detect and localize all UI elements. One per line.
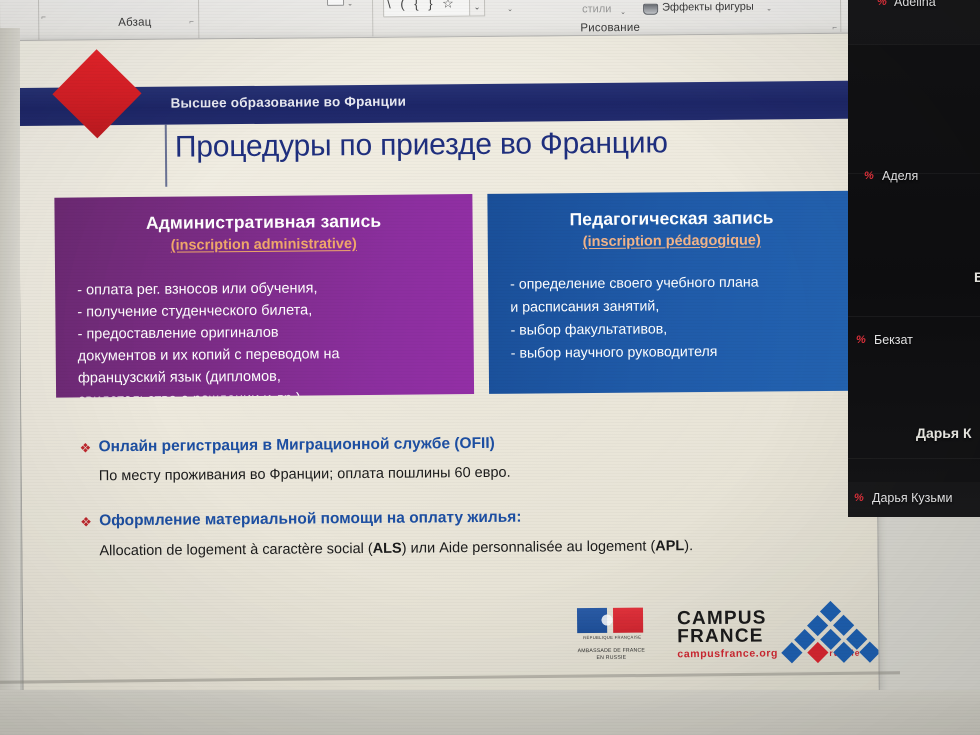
pedagogical-box-heading: Педагогическая запись: [487, 207, 855, 231]
monitor-bezel-left: [0, 28, 20, 708]
participant-tile[interactable]: % Бекзат: [848, 318, 980, 362]
align-objects-chevron-down-icon[interactable]: ⌄: [347, 0, 353, 8]
slide-header-bar: [18, 81, 873, 126]
participant-name: Бекзат: [874, 333, 913, 347]
shape-gallery[interactable]: \ ( { } ☆: [383, 0, 473, 17]
bullet-item-housing: ❖ Оформление материальной помощи на опла…: [80, 506, 780, 536]
participant-name: Дарья Кузьми: [872, 491, 952, 505]
drawing-group-launcher-icon[interactable]: ⌐: [832, 23, 837, 32]
campus-diamond-icon: [859, 641, 878, 662]
title-rule-divider: [165, 125, 168, 187]
bullet-ofii-heading: Онлайн регистрация в Миграционной службе…: [98, 435, 494, 456]
housing-abbr-apl: APL: [655, 538, 684, 554]
housing-sub-middle: ) или Aide personnalisée au logement (: [402, 538, 656, 556]
zoom-participants-panel[interactable]: % Adelina % Аделя Б % Бекзат Дарья К % Д…: [848, 0, 980, 517]
campus-france-url: campusfrance.org: [677, 647, 778, 660]
ribbon-divider: [198, 0, 199, 38]
paragraph-group-launcher-icon[interactable]: ⌐: [189, 17, 194, 26]
participant-name: Adelina: [894, 0, 936, 9]
bullet-housing-subtext: Allocation de logement à caractère socia…: [99, 538, 693, 559]
quick-styles-label-line2[interactable]: стили: [582, 3, 611, 15]
french-embassy-logo: RÉPUBLIQUE FRANÇAISE AMBASSADE DE FRANCE…: [563, 607, 660, 672]
ribbon-divider: [372, 0, 373, 36]
diamond-bullet-icon: ❖: [79, 441, 91, 455]
ribbon-divider: [38, 0, 39, 40]
participant-divider: [848, 458, 980, 459]
shape-effects-chevron-down-icon[interactable]: ⌄: [766, 5, 772, 13]
ribbon-divider: [840, 0, 841, 32]
housing-abbr-als: ALS: [373, 541, 402, 557]
housing-sub-prefix: Allocation de logement à caractère socia…: [99, 541, 372, 559]
bullet-ofii-subtext: По месту проживания во Франции; оплата п…: [99, 465, 511, 485]
administrative-box-body: - оплата рег. взносов или обучения,- пол…: [77, 276, 460, 398]
bullet-housing-heading: Оформление материальной помощи на оплату…: [99, 509, 521, 531]
align-objects-icon[interactable]: [327, 0, 344, 6]
arrange-chevron-down-icon[interactable]: ⌄: [507, 5, 513, 13]
slide-header-text: Высшее образование во Франции: [170, 94, 406, 111]
mute-icon: %: [864, 170, 875, 182]
participant-tile[interactable]: % Аделя: [848, 150, 980, 194]
housing-sub-suffix: ).: [684, 538, 693, 554]
embassy-republic-text: RÉPUBLIQUE FRANÇAISE: [567, 634, 657, 640]
bullet-item-ofii: ❖ Онлайн регистрация в Миграционной служ…: [79, 433, 719, 463]
participant-divider: [848, 44, 980, 45]
ribbon-group-label-paragraph: Абзац: [118, 17, 151, 29]
desk-surface: [0, 690, 980, 735]
photo-of-monitor: ⌐ Абзац ⌐ ⌄ \ ( { } ☆ ⌄ Упорядочить ⌄ Эк…: [0, 0, 980, 735]
shape-effects-button[interactable]: Эффекты фигуры: [662, 1, 754, 14]
participant-tile[interactable]: Б: [848, 250, 980, 294]
participant-divider: [848, 316, 980, 317]
shape-effects-icon[interactable]: [643, 4, 658, 15]
paragraph-dialog-launcher-icon[interactable]: ⌐: [41, 13, 46, 22]
mute-icon: %: [877, 0, 888, 8]
slide-title: Процедуры по приезде во Францию: [175, 125, 865, 165]
participant-tile[interactable]: % Adelina: [848, 0, 980, 44]
presentation-slide[interactable]: Высшее образование во Франции Процедуры …: [18, 34, 879, 701]
embassy-flag-blue-icon: [577, 608, 607, 633]
participant-tile[interactable]: % Дарья Кузьми: [848, 482, 980, 517]
diamond-bullet-icon: ❖: [80, 515, 92, 529]
mute-icon: %: [854, 492, 865, 504]
campus-france-logo: CAMPUS FRANCE campusfrance.org russie: [677, 606, 868, 670]
embassy-flag-red-icon: [613, 608, 643, 633]
participant-name: Б: [974, 269, 980, 285]
mute-icon: %: [856, 334, 867, 346]
embassy-title-text: AMBASSADE DE FRANCE EN RUSSIE: [559, 647, 663, 662]
participant-tile[interactable]: Дарья К: [848, 410, 980, 454]
pedagogical-registration-box: Педагогическая запись (inscription pédag…: [487, 191, 857, 394]
ribbon-group-label-drawing: Рисование: [580, 22, 640, 35]
participant-name: Аделя: [882, 169, 918, 183]
campus-france-line2: FRANCE: [677, 627, 764, 647]
pedagogical-box-subheading: (inscription pédagogique): [488, 232, 856, 251]
participant-name: Дарья К: [916, 425, 972, 441]
slide-logos: RÉPUBLIQUE FRANÇAISE AMBASSADE DE FRANCE…: [563, 602, 864, 683]
pedagogical-box-body: - определение своего учебного планаи рас…: [510, 271, 843, 366]
embassy-title-line2: EN RUSSIE: [559, 654, 663, 662]
administrative-box-heading: Административная запись: [55, 210, 473, 235]
quick-styles-chevron-down-icon[interactable]: ⌄: [620, 8, 626, 16]
shape-gallery-more-icon[interactable]: ⌄: [469, 0, 485, 16]
administrative-registration-box: Административная запись (inscription adm…: [54, 194, 474, 398]
administrative-box-subheading: (inscription administrative): [55, 235, 473, 255]
